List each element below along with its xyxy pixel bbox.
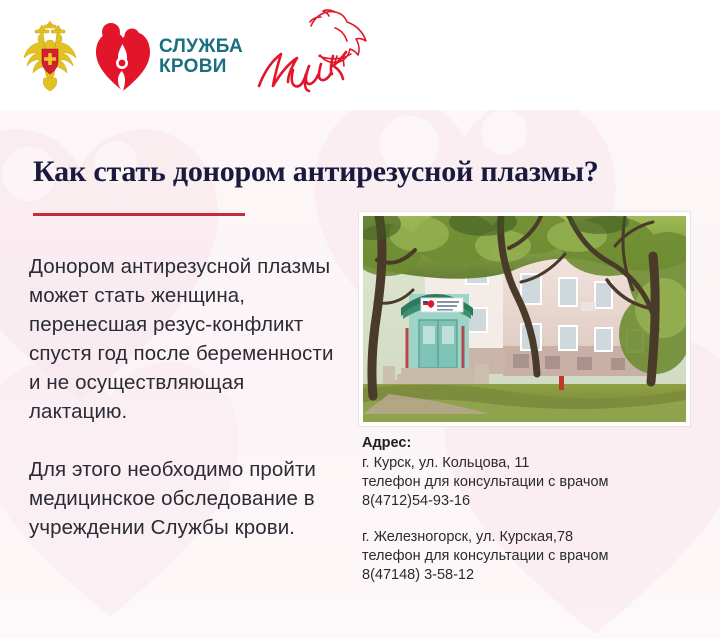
russian-coat-of-arms-icon	[18, 18, 82, 96]
building-photo	[363, 216, 686, 422]
logo-band: СЛУЖБА КРОВИ	[0, 0, 720, 110]
logo-row: СЛУЖБА КРОВИ	[18, 12, 369, 102]
poster-slide: СЛУЖБА КРОВИ	[0, 0, 720, 639]
kursk-nightingale-logo	[249, 4, 369, 99]
address-phone-number[interactable]: 8(4712)54-93-16	[362, 492, 702, 511]
address-title: Адрес:	[362, 434, 702, 452]
address-phone-label: телефон для консультации с врачом	[362, 473, 702, 492]
blood-service-logo: СЛУЖБА КРОВИ	[94, 21, 243, 93]
building-photo-frame	[359, 212, 690, 426]
address-entry-zheleznogorsk: г. Железногорск, ул. Курская,78 телефон …	[362, 528, 702, 585]
body-text-column: Донором антирезусной плазмы может стать …	[29, 252, 345, 542]
address-block: Адрес: г. Курск, ул. Кольцова, 11 телефо…	[362, 434, 702, 585]
address-street: г. Железногорск, ул. Курская,78	[362, 528, 702, 547]
title-underline-rule	[33, 213, 245, 216]
address-street: г. Курск, ул. Кольцова, 11	[362, 454, 702, 473]
address-entry-kursk: г. Курск, ул. Кольцова, 11 телефон для к…	[362, 454, 702, 511]
heart-people-icon	[94, 21, 152, 93]
blood-service-wordmark: СЛУЖБА КРОВИ	[159, 37, 243, 77]
page-title: Как стать донором антирезусной плазмы?	[33, 156, 653, 188]
address-phone-number[interactable]: 8(47148) 3-58-12	[362, 566, 702, 585]
address-phone-label: телефон для консультации с врачом	[362, 547, 702, 566]
body-paragraph-1: Донором антирезусной плазмы может стать …	[29, 252, 345, 426]
body-paragraph-2: Для этого необходимо пройти медицинское …	[29, 455, 345, 542]
wordmark-line-1: СЛУЖБА	[159, 36, 243, 57]
wordmark-line-2: КРОВИ	[159, 56, 227, 77]
